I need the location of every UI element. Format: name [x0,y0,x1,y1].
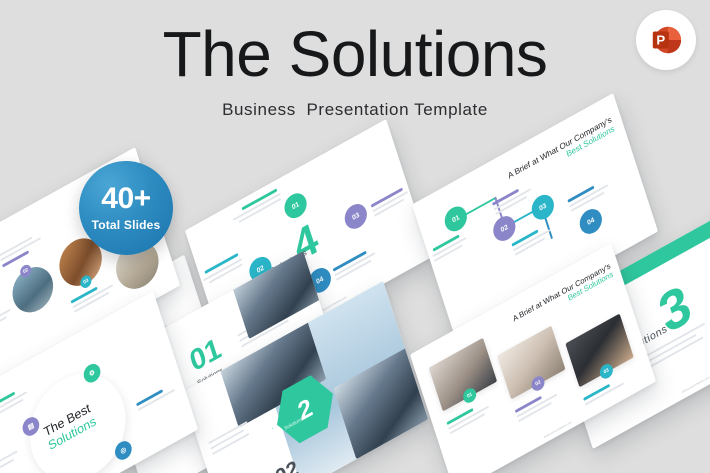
svg-text:P: P [656,32,665,47]
card-photo [497,326,565,400]
flow-node-03: 03 [529,190,557,223]
powerpoint-icon: P [649,23,683,57]
page-subtitle: Business Presentation Template [0,100,710,120]
powerpoint-badge: P [636,10,696,70]
thumb-photo [7,259,59,320]
flow-node-02: 02 [490,212,518,245]
card-photo [429,338,497,412]
card-photo [565,314,633,388]
total-slides-badge: 40+ Total Slides [79,161,173,255]
flow-node-01: 01 [442,202,470,235]
slide-title: A Brief at What Our Company's Best Solut… [507,114,616,189]
hero-block: The Solutions Business Presentation Temp… [0,0,710,120]
slides-count: 40+ [101,184,150,214]
slides-caption: Total Slides [92,218,161,232]
flow-node-04: 04 [577,205,605,238]
promo-canvas: Our Company's Solutions 01 02 03 [0,0,710,473]
page-title: The Solutions [0,22,710,86]
